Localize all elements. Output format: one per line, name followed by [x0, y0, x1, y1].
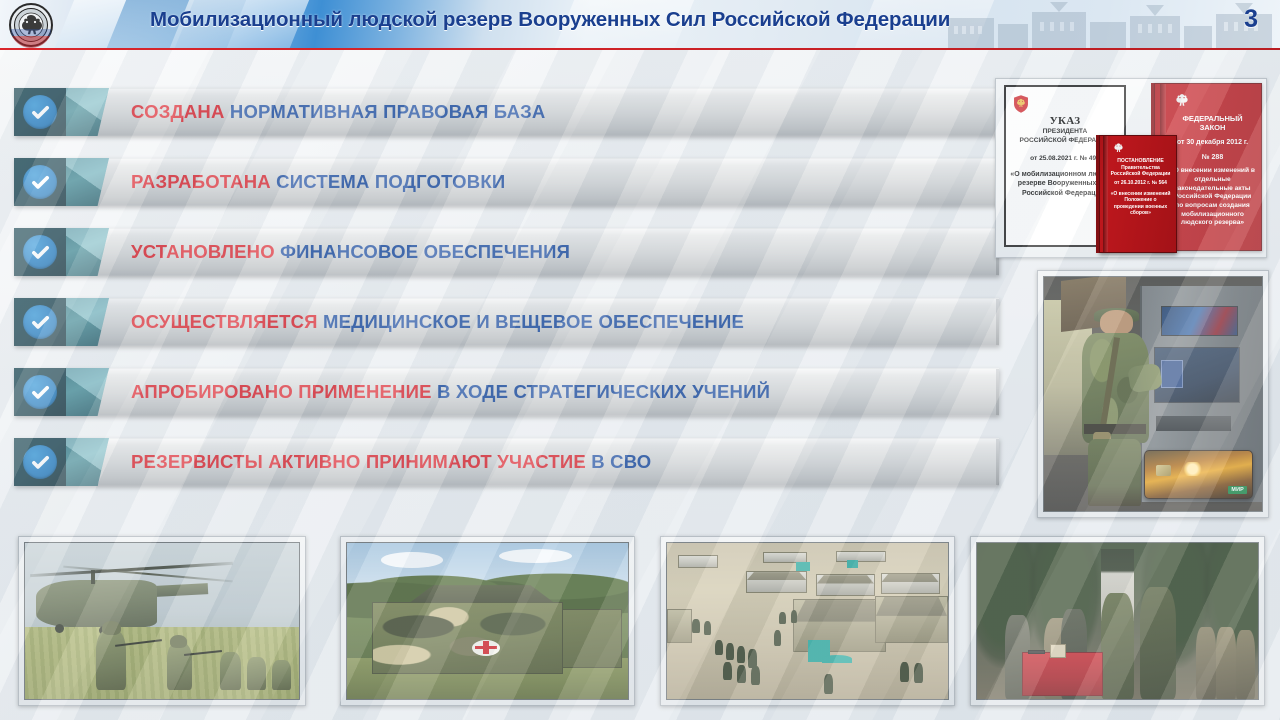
check-circle-icon	[23, 165, 57, 199]
list-item[interactable]: РАЗРАБОТАНА СИСТЕМА ПОДГОТОВКИ	[14, 158, 999, 206]
page-title: Мобилизационный людской резерв Вооруженн…	[150, 8, 1210, 32]
bullet-highlight: РАЗРАБОТАНА	[131, 171, 271, 192]
soldier-figure	[247, 657, 266, 690]
soldier-figure	[751, 666, 759, 685]
tent	[746, 571, 808, 593]
russian-coat-of-arms-icon	[1169, 88, 1195, 114]
soldier-figure	[737, 665, 745, 684]
bullet-highlight: СОЗДАНА	[131, 101, 225, 122]
legal-documents-panel[interactable]: УКАЗ ПРЕЗИДЕНТА РОССИЙСКОЙ ФЕДЕРАЦИИ от …	[995, 78, 1267, 258]
postanovlenie-date: от 26.10.2012 г. № 564	[1109, 180, 1172, 186]
tent	[678, 555, 717, 567]
check-circle-icon	[23, 235, 57, 269]
header-accent-rule	[0, 48, 1280, 50]
card-sunset-artwork	[1182, 462, 1203, 476]
bank-card-overlay: МИР	[1144, 450, 1253, 499]
soldier-helmet	[102, 621, 121, 635]
soldier-figure	[1216, 627, 1236, 699]
federal-law-title: ФЕДЕРАЛЬНЫЙ ЗАКОН	[1169, 114, 1256, 132]
check-icon	[30, 242, 51, 263]
tent	[816, 574, 875, 596]
officer-figure	[1101, 593, 1135, 699]
bullet-badge	[14, 228, 66, 276]
bullet-bar: АПРОБИРОВАНО ПРИМЕНЕНИЕ В ХОДЕ СТРАТЕГИЧ…	[95, 368, 999, 416]
bullet-text: РАЗРАБОТАНА СИСТЕМА ПОДГОТОВКИ	[131, 173, 505, 192]
russian-coat-of-arms-icon	[1109, 139, 1128, 158]
soldier-figure	[748, 649, 756, 668]
ceremony-table	[1022, 652, 1103, 696]
soldier-figure	[704, 621, 711, 635]
bullet-bar: СОЗДАНА НОРМАТИВНАЯ ПРАВОВАЯ БАЗА	[95, 88, 999, 136]
bullet-text: АПРОБИРОВАНО ПРИМЕНЕНИЕ В ХОДЕ СТРАТЕГИЧ…	[131, 383, 770, 402]
photo-content	[24, 542, 300, 700]
bullet-rest: МЕДИЦИНСКОЕ И ВЕЩЕВОЕ ОБЕСПЕЧЕНИЕ	[318, 311, 744, 332]
mir-logo: МИР	[1228, 486, 1247, 494]
awardee-figure	[1140, 587, 1177, 699]
teal-equipment	[796, 562, 810, 571]
soldier-legs	[1088, 439, 1141, 506]
photo-content	[976, 542, 1259, 700]
soldier-figure	[791, 610, 798, 622]
tent-roof	[817, 575, 874, 583]
list-item[interactable]: АПРОБИРОВАНО ПРИМЕНЕНИЕ В ХОДЕ СТРАТЕГИЧ…	[14, 368, 999, 416]
tent	[881, 573, 940, 595]
award-item	[1028, 650, 1045, 654]
check-circle-icon	[23, 375, 57, 409]
tent	[667, 609, 692, 643]
check-circle-icon	[23, 305, 57, 339]
bullet-text: ОСУЩЕСТВЛЯЕТСЯ МЕДИЦИНСКОЕ И ВЕЩЕВОЕ ОБЕ…	[131, 313, 744, 332]
document-postanovlenie[interactable]: ПОСТАНОВЛЕНИЕ Правительства Российской Ф…	[1099, 135, 1177, 253]
support-vehicle	[561, 609, 623, 668]
list-item[interactable]: ОСУЩЕСТВЛЯЕТСЯ МЕДИЦИНСКОЕ И ВЕЩЕВОЕ ОБЕ…	[14, 298, 999, 346]
bullet-badge	[14, 438, 66, 486]
tent-roof	[882, 574, 939, 582]
check-circle-icon	[23, 445, 57, 479]
soldier-figure	[272, 660, 291, 690]
bullet-highlight: УСТАНОВЛЕНО	[131, 241, 275, 262]
bullet-bar: РАЗРАБОТАНА СИСТЕМА ПОДГОТОВКИ	[95, 158, 999, 206]
soldier-head	[1100, 310, 1133, 336]
award-box	[1050, 644, 1066, 658]
bullet-rest: В СВО	[586, 451, 652, 472]
soldier-figure	[914, 663, 922, 683]
tent-roof	[876, 597, 947, 616]
tent	[836, 551, 887, 562]
soldier-helmet	[170, 635, 186, 647]
soldier-figure	[220, 652, 242, 689]
federal-law-date-line2: № 288	[1169, 153, 1256, 162]
soldier-figure	[900, 662, 908, 682]
soldier-figure	[723, 662, 731, 681]
bullet-rest: НОРМАТИВНАЯ ПРАВОВАЯ БАЗА	[225, 101, 546, 122]
soldier-figure	[1196, 627, 1216, 699]
russian-coat-of-arms-icon	[1010, 93, 1032, 115]
bullet-rest: ФИНАНСОВОЕ ОБЕСПЕЧЕНИЯ	[275, 241, 570, 262]
bullet-bar: УСТАНОВЛЕНО ФИНАНСОВОЕ ОБЕСПЕЧЕНИЯ	[95, 228, 999, 276]
military-tent-camp-photo[interactable]	[660, 536, 955, 706]
russian-defence-ministry-emblem-icon	[8, 2, 54, 48]
photo-content: МИР	[1043, 276, 1263, 512]
soldier-figure	[779, 612, 786, 624]
list-item[interactable]: СОЗДАНА НОРМАТИВНАЯ ПРАВОВАЯ БАЗА	[14, 88, 999, 136]
medical-vehicle	[372, 602, 563, 674]
soldier-at-atm-photo[interactable]: МИР	[1037, 270, 1269, 518]
bullet-badge	[14, 88, 66, 136]
bullet-text: УСТАНОВЛЕНО ФИНАНСОВОЕ ОБЕСПЕЧЕНИЯ	[131, 243, 570, 262]
teal-canopy	[822, 655, 853, 663]
field-medical-unit-photo[interactable]	[340, 536, 635, 706]
red-cross-icon	[472, 640, 500, 656]
soldier-figure	[774, 630, 781, 646]
soldier-figure	[1236, 630, 1256, 699]
check-icon	[30, 172, 51, 193]
book-spine	[1103, 136, 1108, 252]
bullet-bar: ОСУЩЕСТВЛЯЕТСЯ МЕДИЦИНСКОЕ И ВЕЩЕВОЕ ОБЕ…	[95, 298, 999, 346]
bullet-highlight: ОСУЩЕСТВЛЯЕТСЯ	[131, 311, 318, 332]
tent-roof	[794, 600, 885, 621]
soldier-figure	[824, 674, 832, 694]
tent	[875, 596, 948, 643]
helicopter-fuselage	[36, 580, 157, 627]
achievements-list: СОЗДАНА НОРМАТИВНАЯ ПРАВОВАЯ БАЗА РАЗРАБ…	[14, 88, 999, 508]
soldier-figure	[726, 643, 734, 660]
slide-header: Мобилизационный людской резерв Вооруженн…	[0, 0, 1280, 50]
soldier-figure	[96, 630, 126, 689]
card-chip-icon	[1156, 465, 1171, 475]
postanovlenie-body: «О внесении изменений Положение о провед…	[1109, 191, 1172, 217]
federal-law-body: «О внесении изменений в отдельные законо…	[1169, 167, 1256, 228]
teal-equipment	[847, 560, 858, 568]
bullet-badge	[14, 298, 66, 346]
soldier-figure	[692, 619, 699, 633]
soldier-figure	[1081, 310, 1153, 507]
helicopter-assault-photo[interactable]	[18, 536, 306, 706]
federal-law-date-line1: от 30 декабря 2012 г.	[1169, 138, 1256, 147]
photo-content	[666, 542, 949, 700]
check-icon	[30, 382, 51, 403]
check-circle-icon	[23, 95, 57, 129]
slide-number: 3	[1244, 5, 1258, 34]
bullet-rest: В ХОДЕ СТРАТЕГИЧЕСКИХ УЧЕНИЙ	[432, 381, 770, 402]
soldier-arm	[1127, 362, 1162, 392]
cross-horizontal	[475, 646, 497, 649]
soldier-figure	[715, 640, 723, 656]
list-item[interactable]: РЕЗЕРВИСТЫ АКТИВНО ПРИНИМАЮТ УЧАСТИЕ В С…	[14, 438, 999, 486]
bullet-bar: РЕЗЕРВИСТЫ АКТИВНО ПРИНИМАЮТ УЧАСТИЕ В С…	[95, 438, 999, 486]
list-item[interactable]: УСТАНОВЛЕНО ФИНАНСОВОЕ ОБЕСПЕЧЕНИЯ	[14, 228, 999, 276]
ukaz-title: УКАЗ	[1010, 115, 1120, 127]
bullet-badge	[14, 158, 66, 206]
atm-keypad	[1161, 360, 1183, 388]
bullet-highlight: АПРОБИРОВАНО ПРИМЕНЕНИЕ	[131, 381, 432, 402]
atm-screen	[1161, 306, 1238, 336]
bullet-text: СОЗДАНА НОРМАТИВНАЯ ПРАВОВАЯ БАЗА	[131, 103, 546, 122]
soldier-figure	[737, 646, 745, 663]
presentation-slide: Мобилизационный людской резерв Вооруженн…	[0, 0, 1280, 720]
postanovlenie-title: ПОСТАНОВЛЕНИЕ Правительства Российской Ф…	[1109, 158, 1172, 178]
atm-cash-tray	[1156, 416, 1230, 431]
award-ceremony-photo[interactable]	[970, 536, 1265, 706]
bullet-text: РЕЗЕРВИСТЫ АКТИВНО ПРИНИМАЮТ УЧАСТИЕ В С…	[131, 453, 651, 472]
check-icon	[30, 102, 51, 123]
check-icon	[30, 452, 51, 473]
check-icon	[30, 312, 51, 333]
bullet-rest: СИСТЕМА ПОДГОТОВКИ	[271, 171, 505, 192]
soldier-figure	[167, 643, 192, 690]
bullet-highlight: РЕЗЕРВИСТЫ АКТИВНО ПРИНИМАЮТ УЧАСТИЕ	[131, 451, 586, 472]
bullet-badge	[14, 368, 66, 416]
tent-roof	[747, 572, 807, 580]
photo-content	[346, 542, 629, 700]
